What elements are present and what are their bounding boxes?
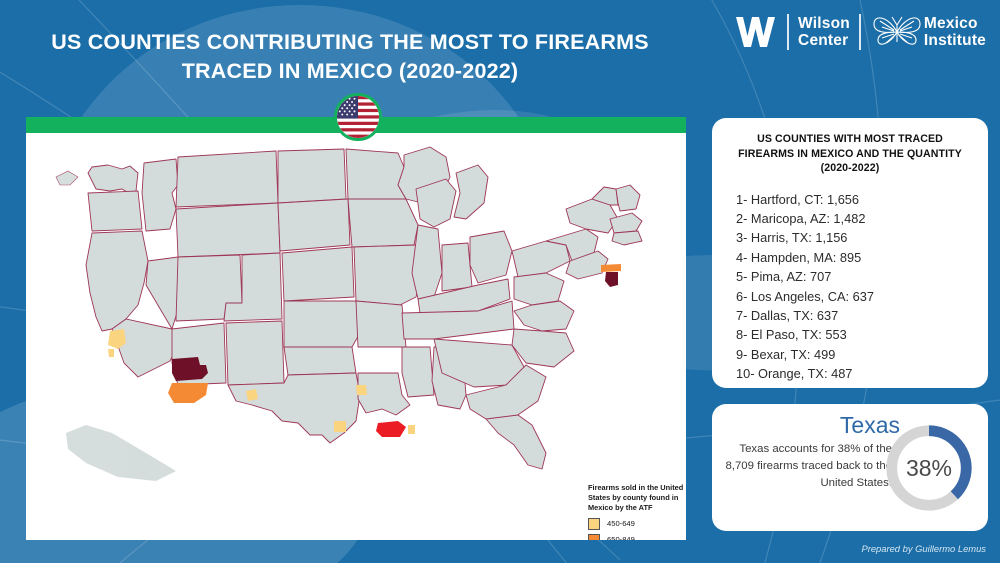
ranked-county-item: 7- Dallas, TX: 637	[736, 306, 988, 325]
ranked-county-item: 6- Los Angeles, CA: 637	[736, 287, 988, 306]
legend-item: 650-849	[588, 534, 686, 540]
ranked-county-item: 10- Orange, TX: 487	[736, 364, 988, 383]
top-counties-panel: US COUNTIES WITH MOST TRACED FIREARMS IN…	[712, 118, 988, 388]
legend-swatch	[588, 518, 600, 530]
wilson-center-w-icon	[734, 14, 778, 50]
map-card: Firearms sold in the United States by co…	[26, 117, 686, 540]
page-title: US COUNTIES CONTRIBUTING THE MOST TO FIR…	[20, 28, 680, 86]
legend-item: 450-649	[588, 518, 686, 530]
ranked-county-item: 1- Hartford, CT: 1,656	[736, 190, 988, 209]
wilson-center-label: Wilson Center	[798, 15, 850, 49]
prepared-by-credit: Prepared by Guillermo Lemus	[861, 543, 986, 554]
ranked-county-item: 4- Hampden, MA: 895	[736, 248, 988, 267]
legend-label: 650-849	[607, 535, 635, 540]
mexico-institute-label: Mexico Institute	[924, 15, 986, 49]
top-counties-list: 1- Hartford, CT: 1,6562- Maricopa, AZ: 1…	[736, 190, 988, 384]
texas-description: Texas accounts for 38% of the 8,709 fire…	[716, 441, 892, 492]
top-counties-title: US COUNTIES WITH MOST TRACED FIREARMS IN…	[728, 132, 972, 176]
legend-swatch	[588, 534, 600, 540]
ranked-county-item: 9- Bexar, TX: 499	[736, 345, 988, 364]
logo-divider-2	[859, 14, 861, 50]
ranked-county-item: 5- Pima, AZ: 707	[736, 267, 988, 286]
ranked-county-item: 2- Maricopa, AZ: 1,482	[736, 209, 988, 228]
texas-stat-panel: Texas Texas accounts for 38% of the 8,70…	[712, 404, 988, 531]
map-legend: Firearms sold in the United States by co…	[588, 483, 686, 540]
ranked-county-item: 8- El Paso, TX: 553	[736, 325, 988, 344]
logo-divider-1	[787, 14, 789, 50]
butterfly-icon	[870, 12, 924, 52]
header: US COUNTIES CONTRIBUTING THE MOST TO FIR…	[0, 0, 1000, 110]
page-title-line1: US COUNTIES CONTRIBUTING THE MOST TO FIR…	[51, 30, 648, 54]
legend-title: Firearms sold in the United States by co…	[588, 483, 686, 514]
ranked-county-item: 3- Harris, TX: 1,156	[736, 228, 988, 247]
legend-rows: 450-649650-849850-1,0991,100+	[588, 518, 686, 540]
us-flag-icon	[334, 93, 382, 141]
us-county-choropleth-map[interactable]	[26, 133, 686, 483]
logo-block: Wilson Center Mexico Institute	[734, 8, 986, 56]
legend-label: 450-649	[607, 519, 635, 528]
donut-percent-label: 38%	[880, 419, 978, 517]
page-title-line2: TRACED IN MEXICO (2020-2022)	[20, 57, 680, 86]
